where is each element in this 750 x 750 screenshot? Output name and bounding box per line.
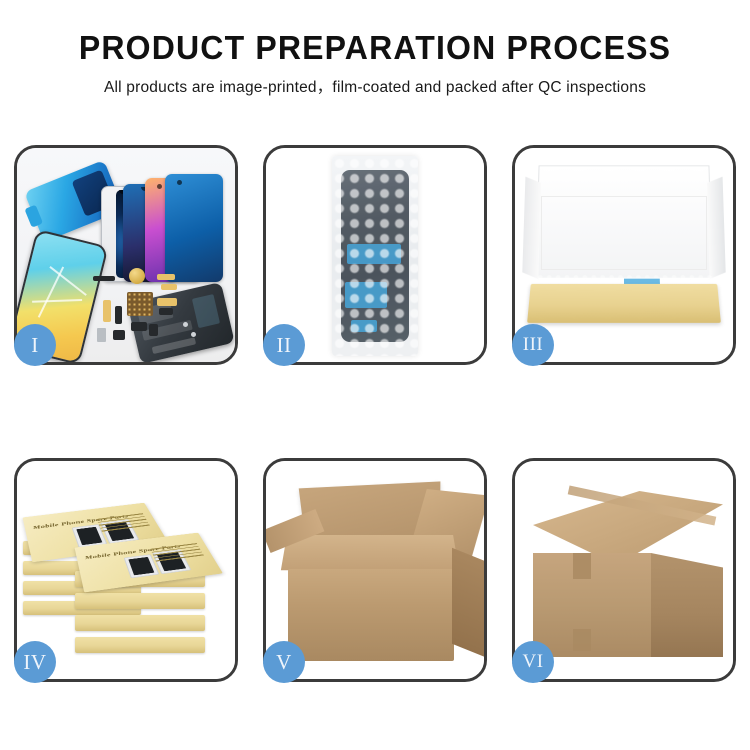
foam-liner-icon <box>541 196 707 270</box>
box-stack: Mobile Phone Spare Parts Mobile Phone Sp… <box>23 485 235 671</box>
step-panel-1: I <box>14 145 238 365</box>
step-panel-2: II <box>263 145 487 365</box>
step-badge-5: V <box>263 641 305 683</box>
step-panel-5: V <box>263 458 487 682</box>
step-badge-4: IV <box>14 641 56 683</box>
step-badge-3: III <box>512 324 554 366</box>
carton-tape-lower <box>573 629 591 651</box>
step-badge-2: II <box>263 324 305 366</box>
step-badge-6: VI <box>512 641 554 683</box>
header: PRODUCT PREPARATION PROCESS All products… <box>0 0 750 97</box>
shipping-carton-open <box>288 569 454 661</box>
kraft-box-tray-icon <box>527 284 721 323</box>
carton-top-edge <box>281 535 459 570</box>
page-title: PRODUCT PREPARATION PROCESS <box>11 30 739 66</box>
steps-grid: I II III <box>14 145 736 682</box>
spare-parts-cluster <box>91 262 199 358</box>
carton-tape-upper <box>573 553 591 579</box>
step-panel-3: III <box>512 145 736 365</box>
bubble-texture-icon <box>332 156 418 356</box>
sealed-shipping-carton <box>533 553 651 657</box>
bubble-wrap-package <box>332 156 418 356</box>
page-subtitle: All products are image-printed，film-coat… <box>0 75 750 97</box>
step-panel-6: VI <box>512 458 736 682</box>
step-panel-4: Mobile Phone Spare Parts Mobile Phone Sp… <box>14 458 238 682</box>
carton-side-face <box>651 553 723 657</box>
product-preparation-infographic: PRODUCT PREPARATION PROCESS All products… <box>0 0 750 750</box>
step-badge-1: I <box>14 324 56 366</box>
